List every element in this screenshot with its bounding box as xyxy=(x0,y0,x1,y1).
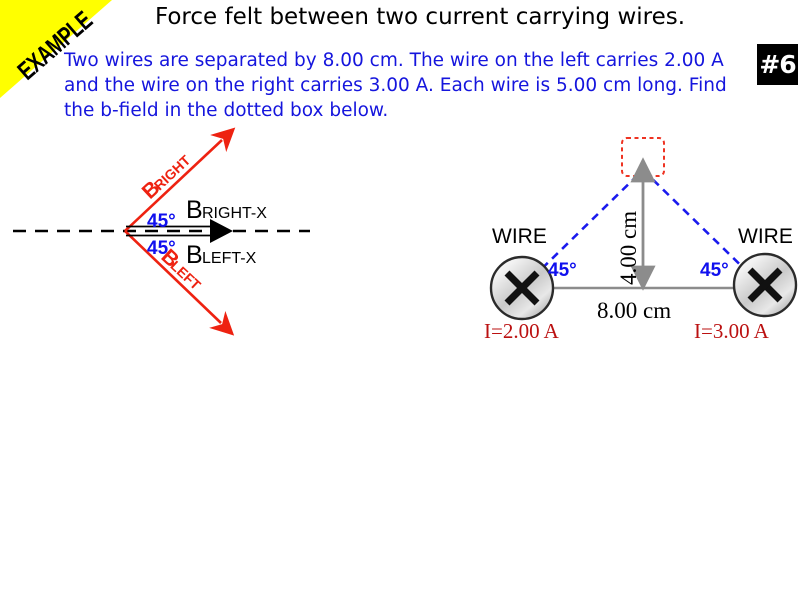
wire-diagram: WIRE WIRE 45° 45° 8.00 cm 4.00 cm I=2.00… xyxy=(0,0,800,600)
separation-label: 8.00 cm xyxy=(597,298,671,323)
wire-right-label: WIRE xyxy=(738,225,793,248)
example-ribbon: EXAMPLE xyxy=(0,0,112,98)
wire-right xyxy=(734,254,796,316)
wire-left-label: WIRE xyxy=(492,225,547,248)
wire-left xyxy=(491,257,553,319)
angle-right-label: 45° xyxy=(700,260,729,281)
current-right-label: I=3.00 A xyxy=(694,319,770,343)
angle-left-label: 45° xyxy=(548,260,577,281)
height-label: 4.00 cm xyxy=(616,211,641,285)
current-left-label: I=2.00 A xyxy=(484,319,560,343)
